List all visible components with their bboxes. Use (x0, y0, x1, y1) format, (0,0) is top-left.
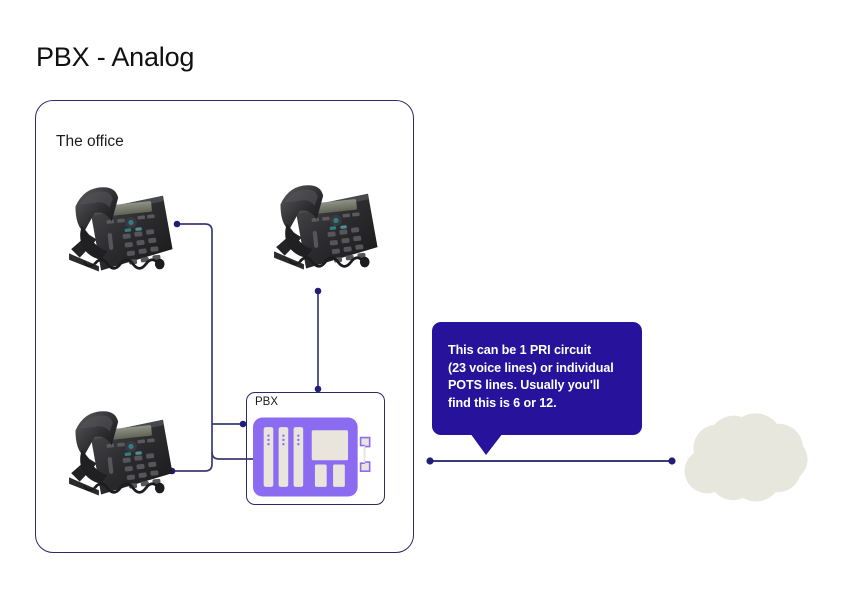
desk-phone-bottom-left-icon (61, 411, 176, 509)
connector-phone-bottom-left-to-pbx (169, 452, 212, 474)
desk-phone-top-right-icon (266, 185, 381, 283)
connector-pbx-trunk-stub (212, 421, 246, 428)
connector-pbx-to-pstn (426, 457, 675, 464)
tooltip-tail (470, 433, 503, 455)
diagram-canvas (0, 0, 850, 602)
pbx-device-icon (253, 417, 370, 496)
connector-phone-top-right-to-pbx (315, 288, 322, 393)
pstn-cloud-icon (685, 413, 808, 501)
desk-phone-top-left-icon (61, 187, 176, 285)
